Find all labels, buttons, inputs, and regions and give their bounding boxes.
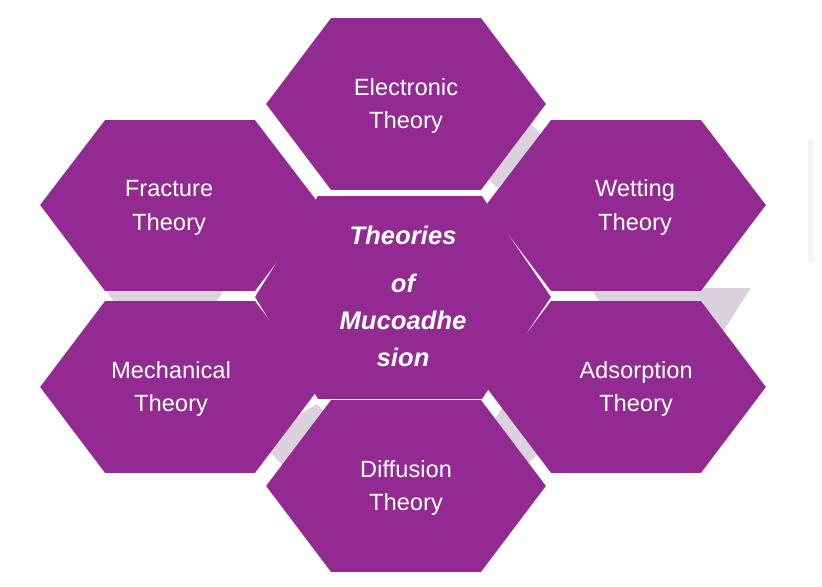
hexagon-cluster-graphic bbox=[0, 0, 822, 587]
diagram-canvas: Electronic Theory Fracture Theory Wettin… bbox=[0, 0, 822, 587]
edge-artifact bbox=[808, 140, 814, 262]
